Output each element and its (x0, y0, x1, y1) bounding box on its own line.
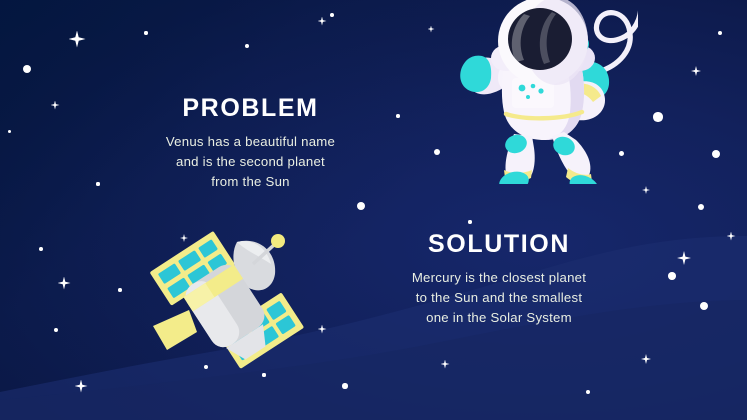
presentation-slide: PROBLEM Venus has a beautiful name and i… (0, 0, 747, 420)
star-sparkle-icon (58, 277, 71, 290)
star-dot (39, 247, 43, 251)
star-sparkle-icon (642, 186, 650, 194)
star-sparkle-icon (75, 380, 88, 393)
star-dot (468, 220, 471, 223)
star-dot (668, 272, 676, 280)
star-dot (245, 44, 249, 48)
star-dot (700, 302, 708, 310)
star-dot (396, 114, 400, 118)
problem-heading: PROBLEM (128, 96, 373, 121)
star-dot (54, 328, 58, 332)
star-dot (118, 288, 122, 292)
star-dot (330, 13, 334, 17)
solution-body-line-2: to the Sun and the smallest (416, 290, 583, 305)
star-sparkle-icon (691, 66, 701, 76)
satellite-thruster-fin (153, 310, 197, 350)
star-sparkle-icon (318, 17, 327, 26)
star-dot (718, 31, 722, 35)
star-dot (144, 31, 147, 34)
star-dot (23, 65, 31, 73)
solution-body: Mercury is the closest planet to the Sun… (375, 268, 623, 328)
astronaut-helmet (498, 0, 588, 85)
star-dot (712, 150, 721, 159)
star-dot (357, 202, 366, 211)
solution-section: SOLUTION Mercury is the closest planet t… (375, 232, 623, 328)
star-dot (342, 383, 347, 388)
problem-body: Venus has a beautiful name and is the se… (128, 132, 373, 192)
problem-section: PROBLEM Venus has a beautiful name and i… (128, 96, 373, 192)
solution-body-line-1: Mercury is the closest planet (412, 270, 586, 285)
astronaut-illustration (452, 0, 638, 184)
solution-body-line-3: one in the Solar System (426, 310, 572, 325)
star-dot (96, 182, 99, 185)
star-sparkle-icon (727, 232, 736, 241)
problem-body-line-2: and is the second planet (176, 154, 325, 169)
star-sparkle-icon (441, 360, 450, 369)
star-dot (653, 112, 662, 121)
star-sparkle-icon (318, 325, 327, 334)
star-dot (8, 130, 11, 133)
star-sparkle-icon (51, 101, 60, 110)
star-sparkle-icon (677, 251, 691, 265)
star-sparkle-icon (428, 26, 435, 33)
star-dot (698, 204, 705, 211)
star-sparkle-icon (641, 354, 651, 364)
star-sparkle-icon (69, 31, 86, 48)
problem-body-line-1: Venus has a beautiful name (166, 134, 335, 149)
star-dot (586, 390, 591, 395)
satellite-illustration (141, 222, 307, 374)
problem-body-line-3: from the Sun (211, 174, 290, 189)
star-dot (434, 149, 440, 155)
solution-heading: SOLUTION (375, 232, 623, 257)
